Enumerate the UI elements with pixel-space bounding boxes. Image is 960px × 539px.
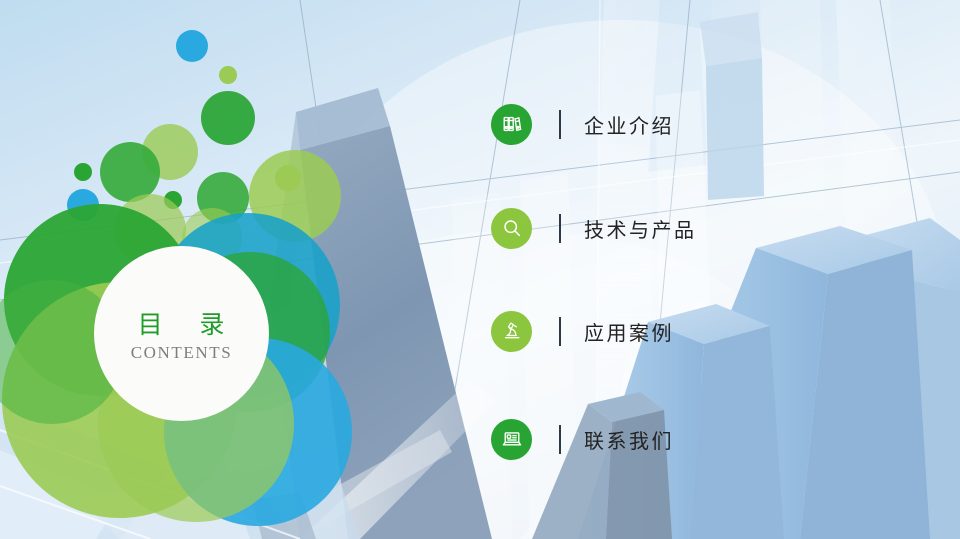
toc-divider: [559, 110, 561, 139]
toc-divider: [559, 317, 561, 346]
toc-item-label: 联系我们: [584, 425, 674, 454]
laptop-icon[interactable]: [491, 419, 532, 460]
binders-icon[interactable]: [491, 104, 532, 145]
magnifier-icon[interactable]: [491, 208, 532, 249]
slide-canvas: 目 录 CONTENTS 企业介绍: [0, 0, 960, 539]
toc-menu: 企业介绍 技术与产品: [487, 0, 907, 539]
contents-title-en: CONTENTS: [131, 343, 233, 363]
microscope-icon[interactable]: [491, 311, 532, 352]
toc-divider: [559, 425, 561, 454]
toc-item-company-intro[interactable]: 企业介绍: [491, 100, 674, 148]
toc-item-contact-us[interactable]: 联系我们: [491, 415, 674, 463]
toc-item-technology-products[interactable]: 技术与产品: [491, 204, 697, 252]
contents-badge: 目 录 CONTENTS: [94, 246, 269, 421]
toc-item-label: 技术与产品: [584, 214, 697, 243]
toc-item-application-cases[interactable]: 应用案例: [491, 307, 674, 355]
contents-title-cn: 目 录: [138, 305, 226, 341]
toc-item-label: 企业介绍: [584, 110, 674, 139]
toc-item-label: 应用案例: [584, 317, 674, 346]
toc-divider: [559, 214, 561, 243]
